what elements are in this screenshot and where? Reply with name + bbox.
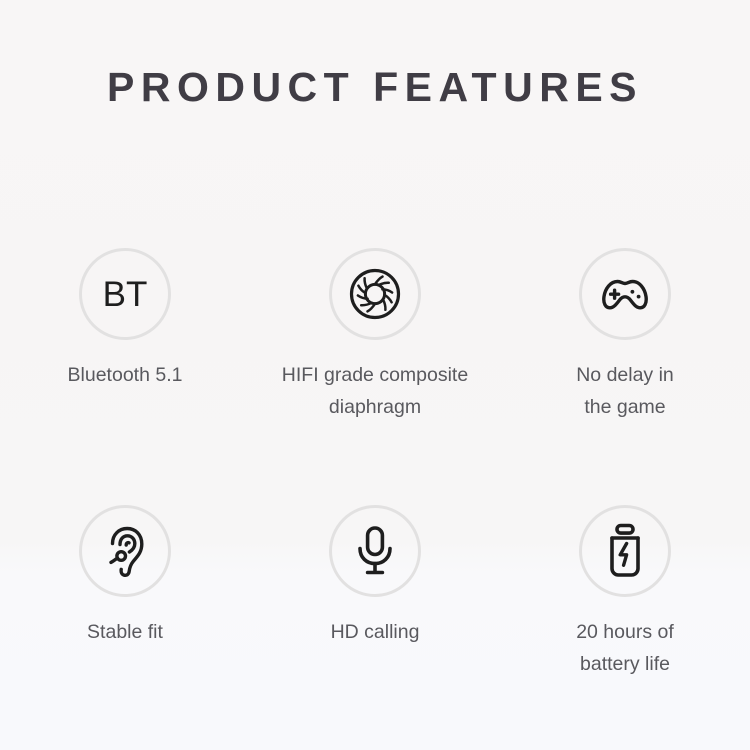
feature-row-top: BT Bluetooth 5.1: [0, 248, 750, 423]
gamepad-badge: [579, 248, 671, 340]
caption-line: the game: [576, 392, 674, 424]
caption-line: Stable fit: [87, 617, 163, 649]
bt-text-icon: BT: [103, 277, 148, 312]
bt-badge: BT: [79, 248, 171, 340]
battery-badge: [579, 505, 671, 597]
feature-item-battery: 20 hours of battery life: [500, 505, 750, 680]
feature-caption-stable-fit: Stable fit: [87, 617, 163, 649]
feature-item-stable-fit: Stable fit: [0, 505, 250, 680]
feature-row-bottom: Stable fit HD calling: [0, 505, 750, 680]
caption-line: Bluetooth 5.1: [68, 360, 183, 392]
feature-item-bluetooth: BT Bluetooth 5.1: [0, 248, 250, 423]
aperture-diaphragm-icon: [347, 266, 403, 322]
feature-item-game: No delay in the game: [500, 248, 750, 423]
microphone-badge: [329, 505, 421, 597]
caption-line: battery life: [576, 649, 674, 681]
feature-caption-bluetooth: Bluetooth 5.1: [68, 360, 183, 392]
caption-line: HIFI grade composite: [282, 360, 468, 392]
caption-line: No delay in: [576, 360, 674, 392]
feature-item-hd-calling: HD calling: [250, 505, 500, 680]
caption-line: 20 hours of: [576, 617, 674, 649]
ear-badge: [79, 505, 171, 597]
feature-caption-game: No delay in the game: [576, 360, 674, 423]
battery-charging-icon: [603, 522, 647, 580]
caption-line: HD calling: [331, 617, 420, 649]
feature-caption-diaphragm: HIFI grade composite diaphragm: [282, 360, 468, 423]
caption-line: diaphragm: [282, 392, 468, 424]
feature-caption-hd-calling: HD calling: [331, 617, 420, 649]
feature-item-diaphragm: HIFI grade composite diaphragm: [250, 248, 500, 423]
feature-caption-battery: 20 hours of battery life: [576, 617, 674, 680]
gamepad-icon: [596, 265, 654, 323]
page-title: PRODUCT FEATURES: [0, 64, 750, 111]
product-features-page: PRODUCT FEATURES BT Bluetooth 5.1: [0, 0, 750, 750]
microphone-icon: [350, 523, 400, 579]
ear-icon: [99, 523, 151, 579]
diaphragm-badge: [329, 248, 421, 340]
